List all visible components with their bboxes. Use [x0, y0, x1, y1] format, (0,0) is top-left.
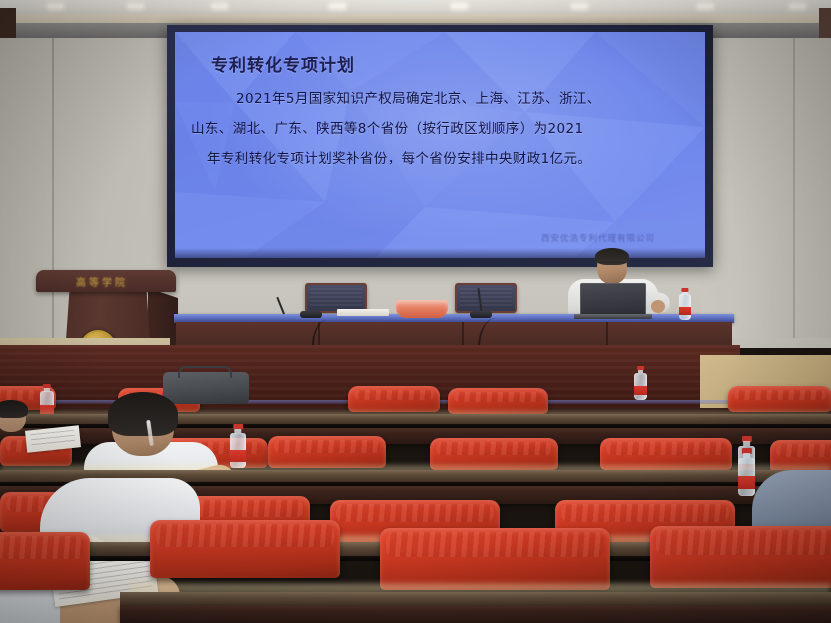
bottle-label: [230, 450, 246, 462]
water-bottle: [738, 448, 755, 496]
bottle-body: [230, 433, 246, 468]
projection-screen-frame: 专利转化专项计划 2021年5月国家知识产权局确定北京、上海、江苏、浙江、 山东…: [167, 25, 713, 267]
bottle-body: [738, 458, 755, 496]
tray: [396, 300, 448, 318]
laptop-base: [574, 314, 652, 319]
ceiling-light-icon: [212, 4, 227, 8]
water-bottle: [679, 288, 691, 320]
water-bottle: [230, 424, 246, 468]
lecture-hall-scene: 专利转化专项计划 2021年5月国家知识产权局确定北京、上海、江苏、浙江、 山东…: [0, 0, 831, 623]
bottle-label: [679, 307, 691, 316]
audience-seat: [150, 520, 340, 578]
attendee-hair: [0, 400, 28, 418]
ceiling-light-icon: [452, 4, 467, 8]
slide-line-3: 年专利转化专项计划奖补省份，每个省份安排中央财政1亿元。: [191, 144, 705, 174]
ceiling-light-icon: [790, 4, 805, 8]
water-bottle: [634, 366, 647, 400]
bag-handle: [178, 366, 232, 378]
audience-seat: [380, 528, 610, 590]
audience-seat: [448, 388, 548, 414]
left-corner-trim: [0, 8, 16, 42]
speaker-hand: [651, 300, 665, 313]
ceiling-light-icon: [698, 4, 713, 8]
laptop-screen: [580, 283, 646, 316]
ceiling-light-icon: [128, 4, 143, 8]
audience-seat: [348, 386, 440, 412]
ceiling-soffit: [0, 14, 831, 23]
bottle-label: [634, 386, 647, 395]
document-lines: [30, 430, 75, 449]
ceiling-light-icon: [330, 4, 345, 8]
bottle-body: [634, 373, 647, 400]
document-sheet: [25, 425, 81, 453]
ceiling-light-icon: [572, 4, 587, 8]
slide-body: 2021年5月国家知识产权局确定北京、上海、江苏、浙江、 山东、湖北、广东、陕西…: [191, 84, 705, 174]
wall-seam: [793, 38, 795, 338]
right-wall-panel: [701, 38, 831, 338]
slide-title: 专利转化专项计划: [211, 51, 355, 76]
audience-seat: [0, 532, 90, 590]
projection-screen: 专利转化专项计划 2021年5月国家知识产权局确定北京、上海、江苏、浙江、 山东…: [175, 32, 705, 258]
right-corner-trim: [819, 8, 831, 38]
wall-seam: [52, 38, 54, 338]
bottle-body: [679, 294, 691, 320]
microphone-base: [300, 311, 322, 318]
audience-desk: [120, 606, 831, 623]
audience-seat: [268, 436, 386, 468]
paper-stack: [337, 309, 389, 316]
audience-seat: [728, 386, 831, 412]
audience-seat: [650, 526, 831, 588]
attendee-hair: [108, 392, 178, 436]
podium-label: 高等学院: [56, 273, 148, 289]
slide-line-2: 山东、湖北、广东、陕西等8个省份（按行政区划顺序）为2021: [191, 114, 705, 144]
slide-line-1: 2021年5月国家知识产权局确定北京、上海、江苏、浙江、: [191, 84, 705, 114]
bottle-label: [738, 476, 755, 489]
microphone-base: [470, 311, 492, 318]
glasses-icon: [598, 262, 626, 268]
stage-chair: [455, 283, 517, 313]
slide-watermark: 西安优浩专利代理有限公司: [541, 232, 655, 244]
ceiling-light-icon: [48, 4, 63, 8]
